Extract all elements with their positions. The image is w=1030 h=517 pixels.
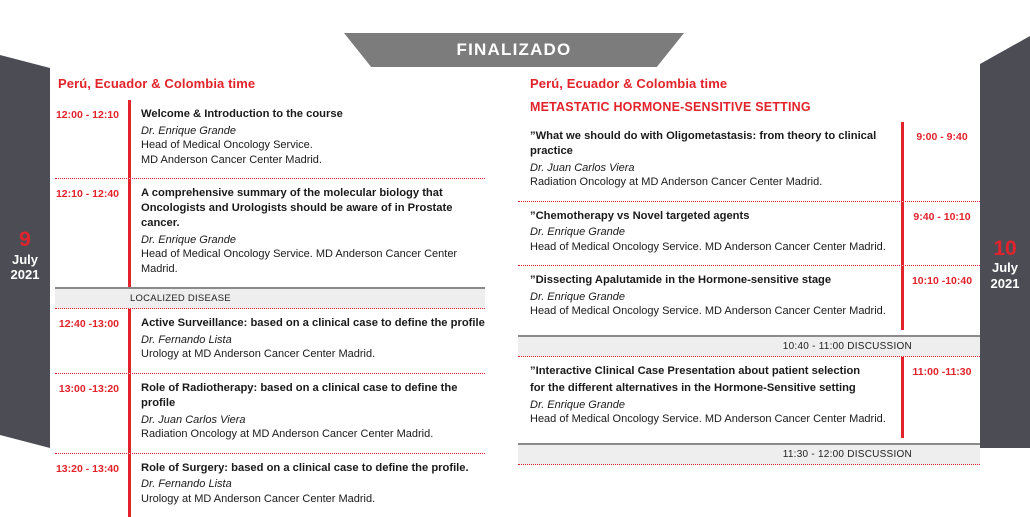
session-row: 12:40 -13:00 Active Surveillance: based …: [55, 309, 485, 373]
agenda-column-day10: Perú, Ecuador & Colombia time METASTATIC…: [518, 76, 980, 465]
timezone-heading-left: Perú, Ecuador & Colombia time: [58, 76, 485, 91]
session-body: Active Surveillance: based on a clinical…: [131, 309, 485, 373]
session-speaker: Dr. Enrique Grande: [530, 290, 891, 304]
session-body: ”Chemotherapy vs Novel targeted agents D…: [518, 202, 901, 266]
date-month-left: July: [12, 253, 38, 268]
session-time: 12:00 - 12:10: [55, 100, 128, 178]
session-body: Role of Surgery: based on a clinical cas…: [131, 454, 485, 517]
date-day-right: 10: [993, 237, 1016, 261]
session-title: ”Chemotherapy vs Novel targeted agents: [530, 209, 891, 224]
session-affiliation: MD Anderson Cancer Center Madrid.: [141, 153, 485, 168]
session-body: ”Interactive Clinical Case Presentation …: [518, 357, 901, 438]
session-affiliation: Urology at MD Anderson Cancer Center Mad…: [141, 492, 485, 507]
status-banner: FINALIZADO: [344, 33, 684, 67]
session-speaker: Dr. Enrique Grande: [141, 233, 485, 247]
session-title: Role of Surgery: based on a clinical cas…: [141, 461, 485, 476]
session-title: ”Dissecting Apalutamide in the Hormone-s…: [530, 273, 891, 288]
session-row: 12:10 - 12:40 A comprehensive summary of…: [55, 178, 485, 287]
session-time: 12:10 - 12:40: [55, 179, 128, 287]
date-ribbon-right: 10 July 2021: [980, 36, 1030, 448]
session-body: ”What we should do with Oligometastasis:…: [518, 122, 901, 201]
session-affiliation: Radiation Oncology at MD Anderson Cancer…: [530, 175, 891, 190]
session-speaker: Dr. Juan Carlos Viera: [141, 413, 485, 427]
session-row: 13:00 -13:20 Role of Radiotherapy: based…: [55, 373, 485, 453]
section-heading-metastatic: METASTATIC HORMONE-SENSITIVE SETTING: [530, 100, 980, 114]
session-row: ”Chemotherapy vs Novel targeted agents D…: [518, 201, 980, 266]
session-affiliation: Head of Medical Oncology Service.: [141, 138, 485, 153]
session-time: 11:00 -11:30: [904, 357, 980, 438]
date-day-left: 9: [19, 228, 31, 252]
date-year-right: 2021: [991, 277, 1020, 292]
timezone-heading-right: Perú, Ecuador & Colombia time: [530, 76, 980, 91]
session-title: Role of Radiotherapy: based on a clinica…: [141, 381, 485, 411]
session-speaker: Dr. Fernando Lista: [141, 477, 485, 491]
session-row: ”Interactive Clinical Case Presentation …: [518, 357, 980, 438]
agenda-column-day9: Perú, Ecuador & Colombia time 12:00 - 12…: [55, 76, 485, 517]
session-time: 10:10 -10:40: [904, 266, 980, 330]
section-band-localized-disease: LOCALIZED DISEASE: [55, 287, 485, 309]
date-month-right: July: [992, 261, 1018, 276]
session-affiliation: Head of Medical Oncology Service. MD And…: [141, 247, 485, 276]
date-year-left: 2021: [11, 268, 40, 283]
session-body: ”Dissecting Apalutamide in the Hormone-s…: [518, 266, 901, 330]
session-body: Role of Radiotherapy: based on a clinica…: [131, 374, 485, 453]
session-speaker: Dr. Enrique Grande: [141, 124, 485, 138]
session-title: ”What we should do with Oligometastasis:…: [530, 129, 891, 159]
session-time: 13:00 -13:20: [55, 374, 128, 453]
session-affiliation: Urology at MD Anderson Cancer Center Mad…: [141, 347, 485, 362]
session-speaker: Dr. Juan Carlos Viera: [530, 161, 891, 175]
agenda-canvas: FINALIZADO 9 July 2021 10 July 2021 Perú…: [0, 0, 1030, 450]
session-row: ”Dissecting Apalutamide in the Hormone-s…: [518, 265, 980, 330]
session-time: 13:20 - 13:40: [55, 454, 128, 517]
session-affiliation: Head of Medical Oncology Service. MD And…: [530, 304, 891, 319]
session-title: Active Surveillance: based on a clinical…: [141, 316, 485, 331]
session-row: 13:20 - 13:40 Role of Surgery: based on …: [55, 453, 485, 517]
discussion-band-1: 10:40 - 11:00 DISCUSSION: [518, 335, 980, 357]
discussion-band-2: 11:30 - 12:00 DISCUSSION: [518, 443, 980, 465]
session-title: ”Interactive Clinical Case Presentation …: [530, 364, 891, 379]
session-time: 9:00 - 9:40: [904, 122, 980, 201]
session-row: ”What we should do with Oligometastasis:…: [518, 122, 980, 201]
date-ribbon-left: 9 July 2021: [0, 55, 50, 448]
session-title: for the different alternatives in the Ho…: [530, 381, 891, 396]
session-affiliation: Head of Medical Oncology Service. MD And…: [530, 240, 891, 255]
section-band-label: LOCALIZED DISEASE: [55, 293, 231, 304]
session-row: 12:00 - 12:10 Welcome & Introduction to …: [55, 100, 485, 178]
session-body: A comprehensive summary of the molecular…: [131, 179, 485, 287]
session-title: A comprehensive summary of the molecular…: [141, 186, 485, 231]
session-speaker: Dr. Enrique Grande: [530, 225, 891, 239]
session-speaker: Dr. Fernando Lista: [141, 333, 485, 347]
session-affiliation: Radiation Oncology at MD Anderson Cancer…: [141, 427, 485, 442]
session-body: Welcome & Introduction to the course Dr.…: [131, 100, 485, 178]
status-badge-label: FINALIZADO: [457, 40, 572, 60]
session-time: 9:40 - 10:10: [904, 202, 980, 266]
session-speaker: Dr. Enrique Grande: [530, 398, 891, 412]
session-title: Welcome & Introduction to the course: [141, 107, 485, 122]
session-affiliation: Head of Medical Oncology Service. MD And…: [530, 412, 891, 427]
session-time: 12:40 -13:00: [55, 309, 128, 373]
discussion-band-label: 11:30 - 12:00 DISCUSSION: [783, 449, 980, 460]
discussion-band-label: 10:40 - 11:00 DISCUSSION: [783, 341, 980, 352]
